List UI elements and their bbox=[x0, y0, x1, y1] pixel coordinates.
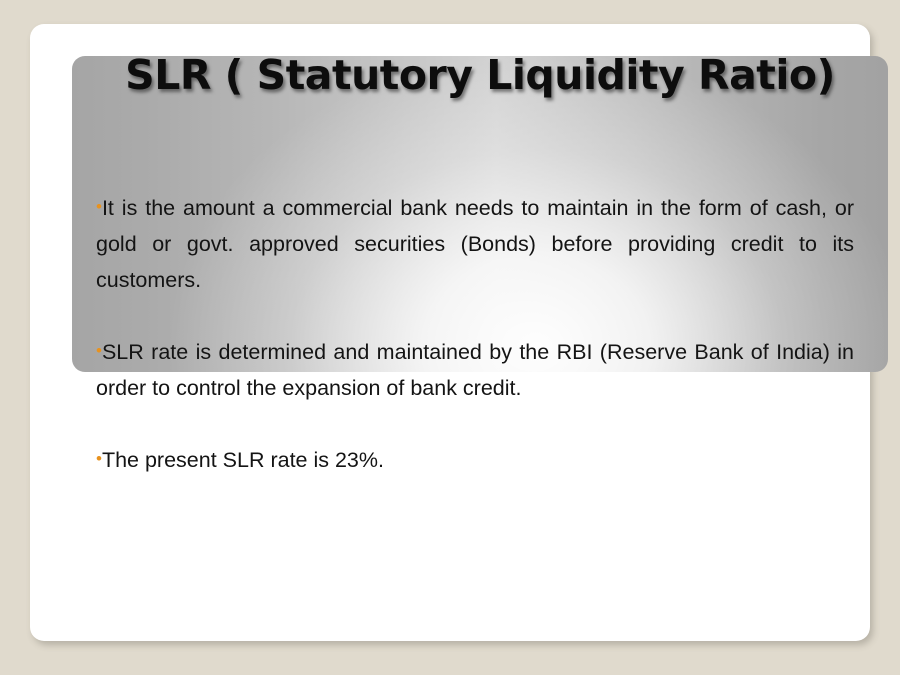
bullet-paragraph-1: •It is the amount a commercial bank need… bbox=[96, 190, 854, 298]
slide-title: SLR ( Statutory Liquidity Ratio) bbox=[90, 50, 870, 100]
bullet-paragraph-3: •The present SLR rate is 23%. bbox=[96, 442, 854, 478]
paragraph-spacer-1 bbox=[96, 298, 854, 334]
paragraph-spacer-2 bbox=[96, 406, 854, 442]
bullet-text-2: SLR rate is determined and maintained by… bbox=[96, 340, 854, 400]
slide-canvas: SLR ( Statutory Liquidity Ratio) •It is … bbox=[0, 0, 900, 675]
bullet-text-1: It is the amount a commercial bank needs… bbox=[96, 196, 854, 292]
slide-body: •It is the amount a commercial bank need… bbox=[96, 190, 854, 478]
slide-sheet: SLR ( Statutory Liquidity Ratio) •It is … bbox=[30, 24, 870, 641]
bullet-text-3: The present SLR rate is 23%. bbox=[102, 448, 384, 472]
bullet-paragraph-2: •SLR rate is determined and maintained b… bbox=[96, 334, 854, 406]
